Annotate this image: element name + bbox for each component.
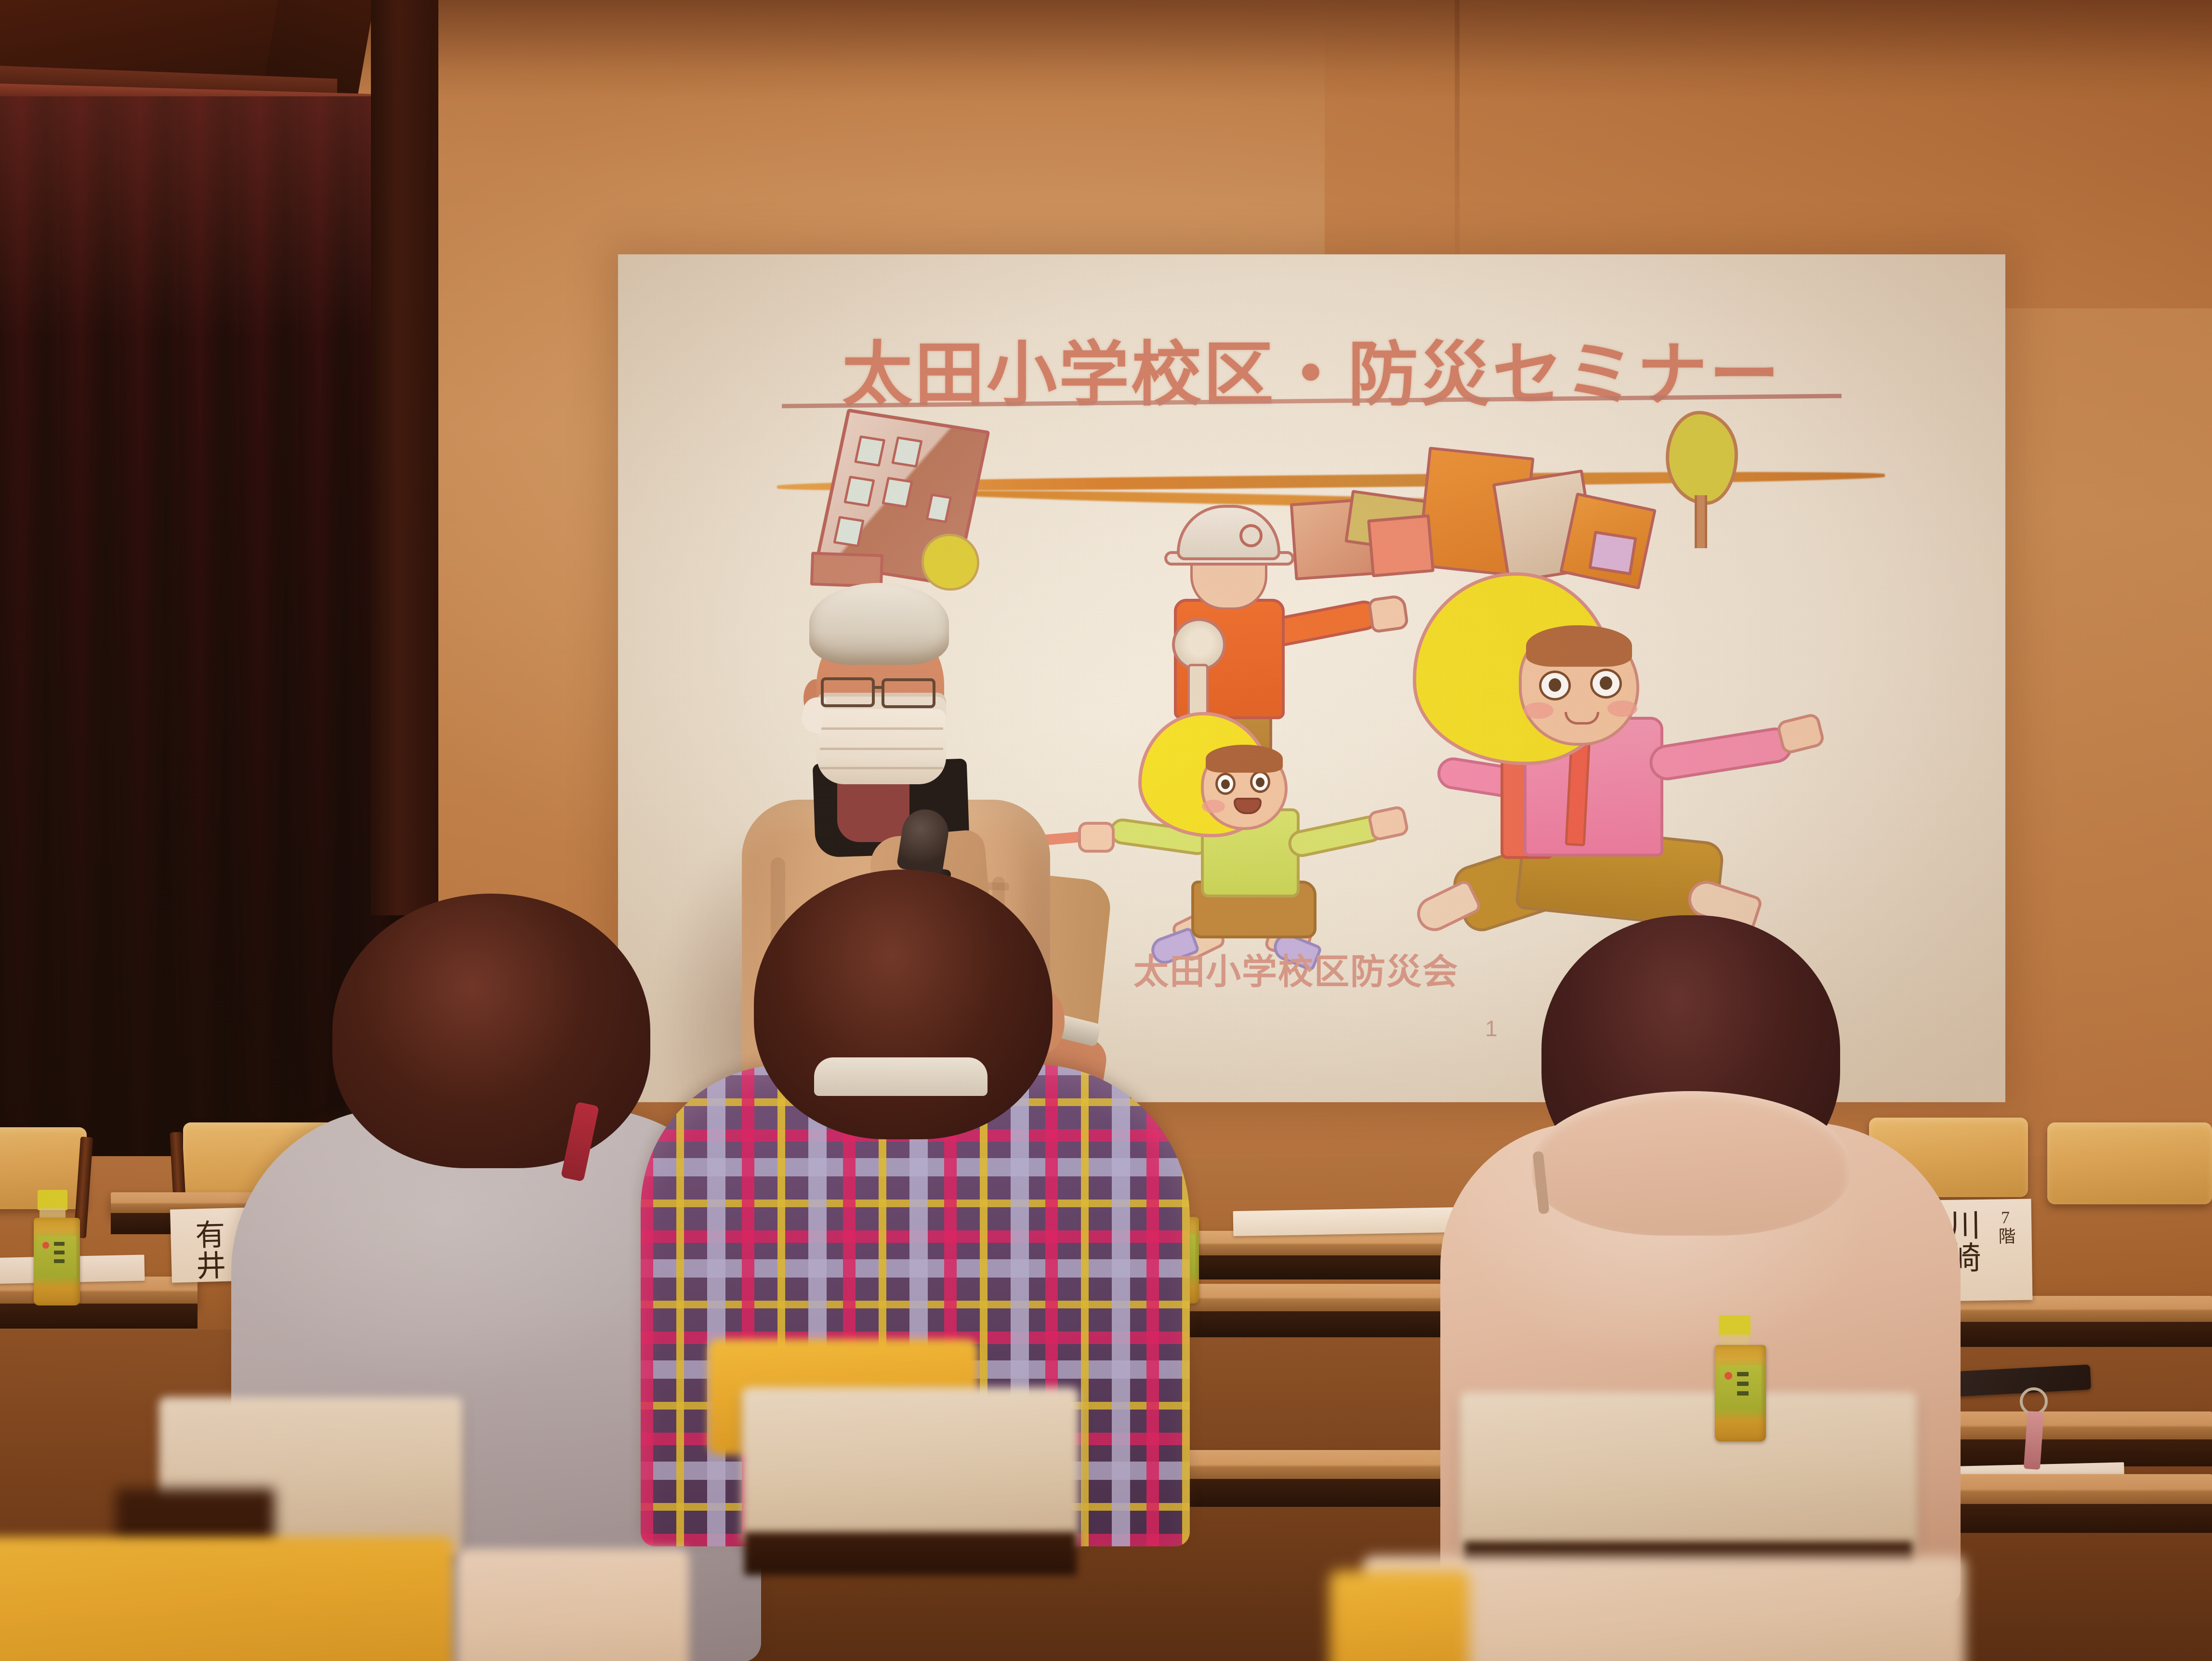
attendee-plaid-shirt-head [754,870,1053,1139]
table-apron [1927,1439,2212,1466]
attendee-plaid-collar [814,1057,987,1096]
green-tea-bottle[interactable] [34,1190,80,1305]
seminar-room-photo: 太田小学校区・防災セミナー [0,0,2212,1661]
presenter-hair [809,583,949,665]
stacking-chair[interactable] [0,1537,453,1661]
table-apron [1917,1322,2212,1347]
curtain-highlight [0,96,434,337]
eyeglasses-right-lens [882,678,935,708]
chair-shadow [744,1532,1077,1575]
paper-handout [1233,1207,1460,1236]
mask-pleat [820,767,943,769]
mask-pleat [820,748,943,750]
hoodie-hood [1532,1091,1850,1236]
stacking-chair[interactable] [1330,1570,1469,1661]
attendee-grey-sweater-head [332,894,650,1168]
eyeglasses-left-lens [821,677,875,707]
wall-pillar [371,0,438,915]
name-card-text: 有井 [191,1219,224,1281]
mask-pleat [820,727,943,730]
stacking-chair[interactable] [2047,1122,2212,1204]
eyeglasses-bridge [874,686,884,689]
table-apron [0,1304,197,1329]
stacking-chair[interactable] [458,1549,689,1661]
name-card-subtext: 7階 [1993,1208,2018,1245]
stacking-chair[interactable] [1460,1392,1917,1556]
folding-table [1927,1411,2212,1441]
stacking-chair[interactable] [742,1387,1079,1546]
green-tea-bottle[interactable] [1715,1315,1766,1441]
keys-with-keychain[interactable] [2011,1387,2069,1498]
